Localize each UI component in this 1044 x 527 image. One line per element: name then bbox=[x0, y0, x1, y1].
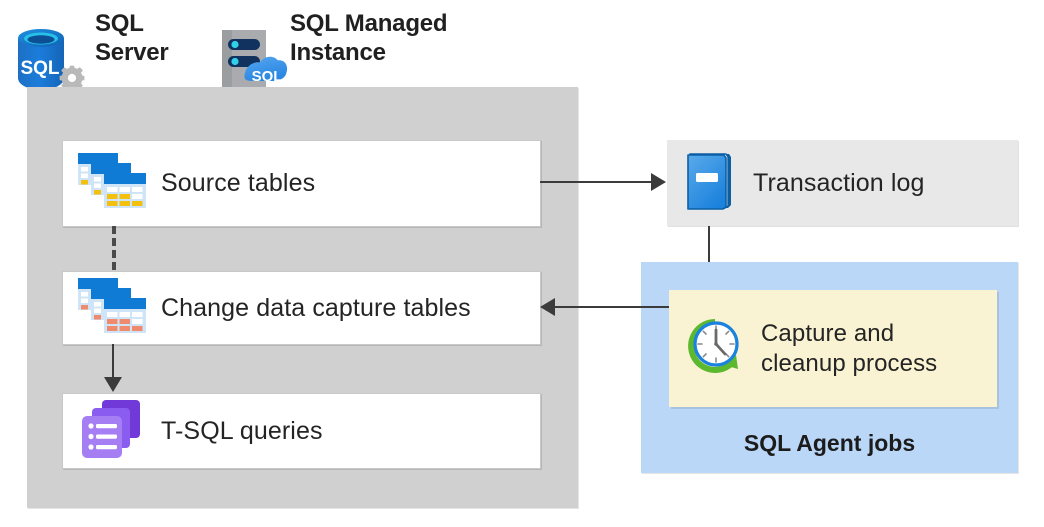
cdc-tables-to-tsql-queries-line bbox=[112, 344, 114, 379]
source-tables-box[interactable]: Source tables bbox=[62, 140, 541, 227]
tsql-queries-label: T-SQL queries bbox=[161, 417, 323, 446]
cdc-tables-icon bbox=[77, 275, 147, 342]
cdc-tables-icon-slot bbox=[63, 275, 161, 342]
capture-cleanup-to-cdc-tables-arrowhead bbox=[540, 298, 555, 316]
source-tables-label: Source tables bbox=[161, 169, 315, 198]
svg-text:SQL: SQL bbox=[20, 58, 59, 79]
capture-and-cleanup-process-box[interactable]: Capture and cleanup process bbox=[669, 290, 997, 407]
capture-cleanup-icon-slot bbox=[669, 317, 761, 380]
tsql-queries-box[interactable]: T-SQL queries bbox=[62, 393, 541, 469]
transaction-log-book-icon bbox=[684, 151, 736, 216]
diagram-canvas: SQL SQL Server bbox=[0, 0, 1044, 527]
transaction-log-label: Transaction log bbox=[753, 169, 925, 198]
tsql-queries-icon-slot bbox=[63, 398, 161, 465]
sql-server-title: SQL Server bbox=[95, 9, 215, 68]
sql-managed-instance-title: SQL Managed Instance bbox=[290, 9, 510, 68]
capture-cleanup-label: Capture and cleanup process bbox=[761, 319, 937, 379]
transaction-log-box[interactable]: Transaction log bbox=[667, 140, 1018, 226]
source-tables-to-cdc-tables-dashed-connector bbox=[112, 226, 116, 270]
sql-agent-jobs-label: SQL Agent jobs bbox=[641, 430, 1018, 457]
transaction-log-icon-slot bbox=[667, 151, 753, 216]
source-tables-to-transaction-log-line bbox=[540, 181, 653, 183]
cdc-tables-to-tsql-queries-arrowhead bbox=[104, 377, 122, 392]
source-tables-icon bbox=[77, 150, 147, 217]
source-tables-to-transaction-log-arrowhead bbox=[651, 173, 666, 191]
cdc-tables-label: Change data capture tables bbox=[161, 294, 471, 323]
cdc-tables-box[interactable]: Change data capture tables bbox=[62, 271, 541, 345]
tsql-queries-icon bbox=[80, 398, 144, 465]
clock-refresh-icon bbox=[686, 317, 744, 380]
capture-cleanup-to-cdc-tables-line bbox=[555, 306, 669, 308]
source-tables-icon-slot bbox=[63, 150, 161, 217]
svg-text:SQL: SQL bbox=[252, 68, 283, 85]
